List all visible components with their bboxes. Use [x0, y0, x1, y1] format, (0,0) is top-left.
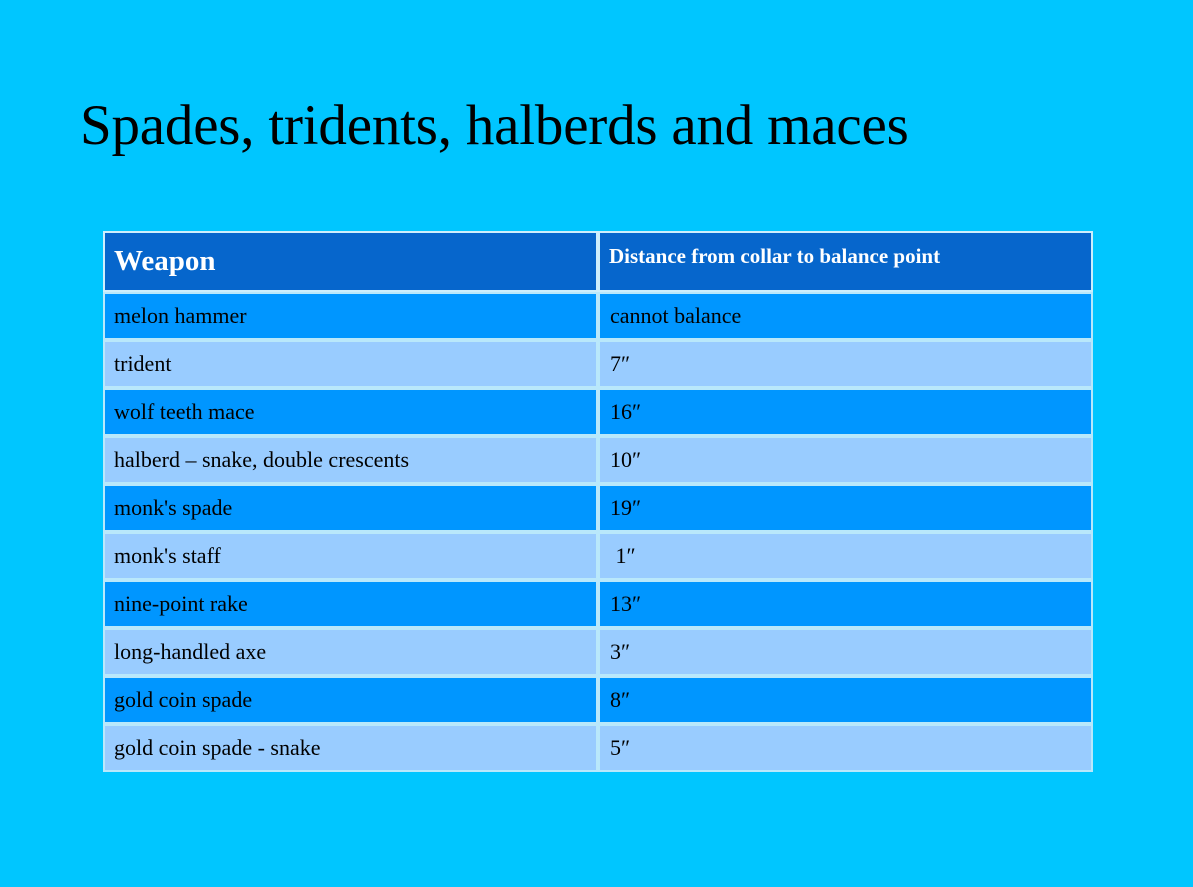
table-row: long-handled axe3″ — [103, 628, 1093, 676]
cell-weapon: nine-point rake — [103, 580, 598, 628]
table-row: monk's spade19″ — [103, 484, 1093, 532]
cell-distance: cannot balance — [598, 292, 1093, 340]
table-row: trident7″ — [103, 340, 1093, 388]
table-body: melon hammercannot balancetrident7″wolf … — [103, 292, 1093, 772]
cell-distance: 10″ — [598, 436, 1093, 484]
weapon-table-container: Weapon Distance from collar to balance p… — [103, 231, 1093, 772]
cell-weapon: halberd – snake, double crescents — [103, 436, 598, 484]
cell-weapon: monk's staff — [103, 532, 598, 580]
table-row: gold coin spade - snake5″ — [103, 724, 1093, 772]
column-header-distance: Distance from collar to balance point — [598, 231, 1093, 292]
table-row: halberd – snake, double crescents10″ — [103, 436, 1093, 484]
table-row: gold coin spade8″ — [103, 676, 1093, 724]
cell-distance: 3″ — [598, 628, 1093, 676]
cell-distance: 16″ — [598, 388, 1093, 436]
cell-distance: 13″ — [598, 580, 1093, 628]
cell-distance: 19″ — [598, 484, 1093, 532]
cell-weapon: trident — [103, 340, 598, 388]
table-header: Weapon Distance from collar to balance p… — [103, 231, 1093, 292]
cell-weapon: melon hammer — [103, 292, 598, 340]
cell-distance: 5″ — [598, 724, 1093, 772]
table-row: monk's staff 1″ — [103, 532, 1093, 580]
table-row: wolf teeth mace16″ — [103, 388, 1093, 436]
table-row: nine-point rake13″ — [103, 580, 1093, 628]
cell-weapon: wolf teeth mace — [103, 388, 598, 436]
table-header-row: Weapon Distance from collar to balance p… — [103, 231, 1093, 292]
page-title: Spades, tridents, halberds and maces — [80, 96, 1120, 156]
cell-distance: 8″ — [598, 676, 1093, 724]
column-header-weapon: Weapon — [103, 231, 598, 292]
column-header-distance-label: Distance from collar to balance point — [609, 246, 1091, 267]
cell-distance: 1″ — [598, 532, 1093, 580]
cell-weapon: monk's spade — [103, 484, 598, 532]
cell-weapon: gold coin spade — [103, 676, 598, 724]
cell-weapon: long-handled axe — [103, 628, 598, 676]
cell-distance: 7″ — [598, 340, 1093, 388]
weapon-balance-table: Weapon Distance from collar to balance p… — [103, 231, 1093, 772]
table-row: melon hammercannot balance — [103, 292, 1093, 340]
cell-weapon: gold coin spade - snake — [103, 724, 598, 772]
